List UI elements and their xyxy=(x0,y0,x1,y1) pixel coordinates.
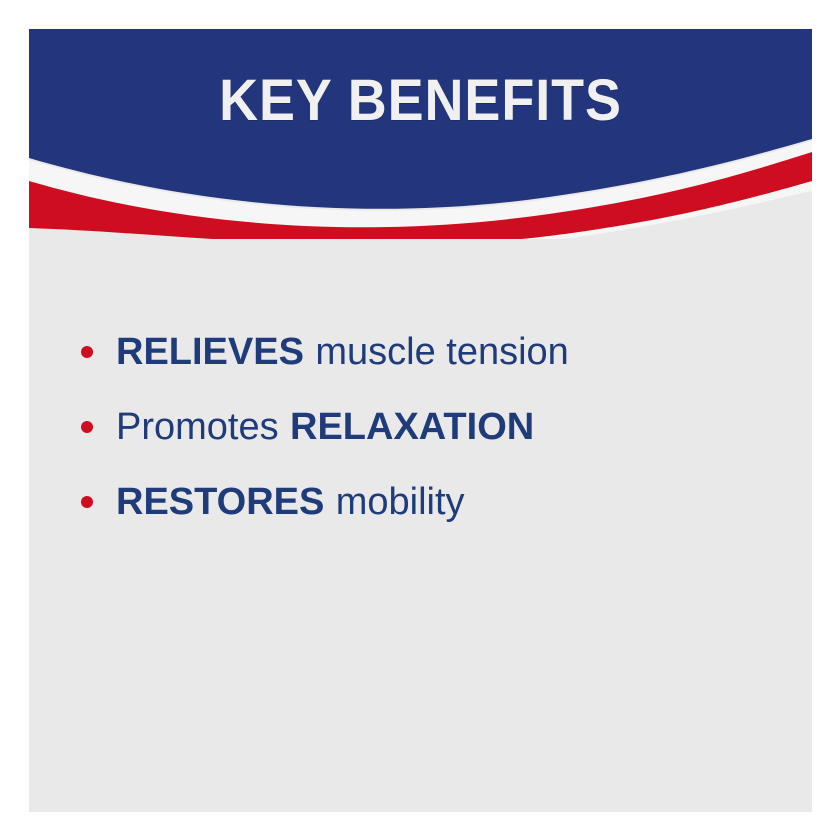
benefit-emphasis: RELAXATION xyxy=(290,406,534,448)
benefit-rest: mobility xyxy=(336,481,465,523)
list-item: PromotesRELAXATION xyxy=(69,389,789,464)
benefit-text: RELIEVESmuscle tension xyxy=(116,333,569,371)
benefit-rest: muscle tension xyxy=(315,331,568,373)
benefits-list: RELIEVESmuscle tension PromotesRELAXATIO… xyxy=(69,314,789,539)
benefit-text: RESTORESmobility xyxy=(116,483,465,521)
page-title: KEY BENEFITS xyxy=(56,72,784,130)
bullet-dot-icon xyxy=(81,496,93,508)
header-wave-graphic xyxy=(29,29,812,239)
list-item: RESTORESmobility xyxy=(69,464,789,539)
benefit-emphasis: RELIEVES xyxy=(116,331,304,373)
key-benefits-panel: KEY BENEFITS RELIEVESmuscle tension Prom… xyxy=(29,29,812,812)
benefit-emphasis: RESTORES xyxy=(116,481,324,523)
list-item: RELIEVESmuscle tension xyxy=(69,314,789,389)
bullet-dot-icon xyxy=(81,346,93,358)
bullet-dot-icon xyxy=(81,421,93,433)
benefit-lead: Promotes xyxy=(116,406,279,448)
benefit-text: PromotesRELAXATION xyxy=(116,408,534,446)
